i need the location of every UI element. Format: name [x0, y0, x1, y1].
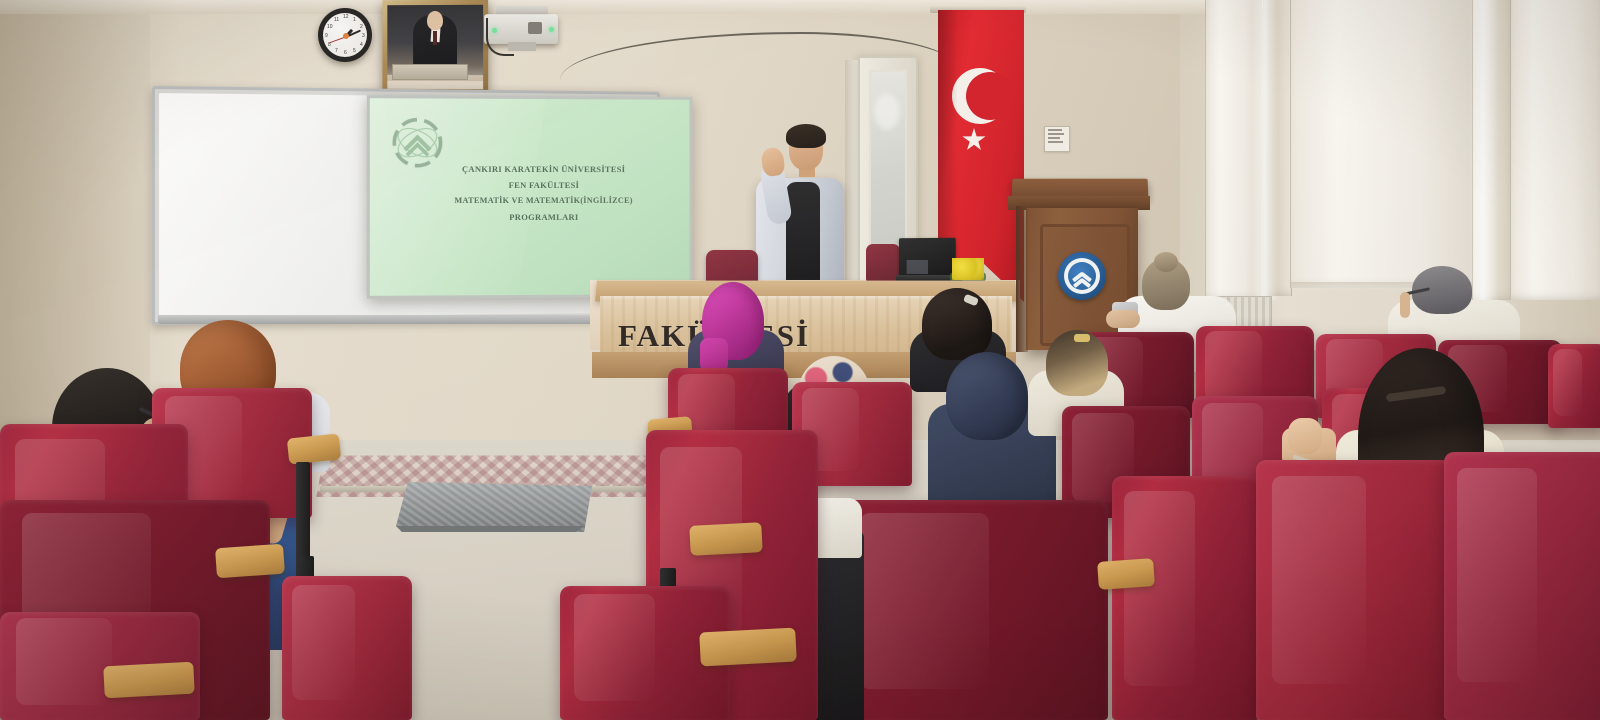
framed-portrait-ataturk — [382, 0, 488, 94]
wall-plate — [392, 64, 468, 80]
clock-numeral: 6 — [344, 50, 347, 56]
headscarf-drape — [700, 338, 728, 372]
notice-text-line — [1048, 129, 1062, 131]
attendee-hand — [1288, 418, 1322, 454]
clock-numeral: 5 — [353, 48, 356, 54]
slide-line-2: FEN FAKÜLTESİ — [418, 177, 667, 193]
notice-text-line — [1048, 137, 1060, 139]
portrait-tie — [433, 31, 437, 45]
roller-blind — [1205, 0, 1262, 300]
seat[interactable] — [282, 576, 412, 720]
seat[interactable] — [1256, 460, 1452, 720]
stage-chair — [866, 244, 900, 282]
clock-center-cap — [343, 33, 349, 39]
wheelchair-access-ramp — [396, 482, 592, 532]
attendee-hair-bun — [1154, 252, 1178, 272]
wall-clock: 12 1 2 3 4 5 6 7 8 9 10 11 — [318, 8, 372, 62]
presenter-hair — [786, 124, 826, 148]
notice-text-line — [1048, 141, 1063, 143]
university-crest-blue — [1058, 252, 1106, 300]
wall-notice-sign — [1044, 126, 1070, 152]
projector-lens — [528, 22, 542, 34]
attendee-headscarf — [946, 352, 1028, 440]
clock-face: 12 1 2 3 4 5 6 7 8 9 10 11 — [323, 13, 367, 57]
seat[interactable] — [1548, 344, 1600, 428]
clock-numeral: 12 — [343, 14, 349, 20]
laptop-screen-glow — [907, 260, 928, 274]
clock-numeral: 9 — [325, 33, 328, 39]
seat-armrest — [1097, 558, 1155, 590]
laptop — [899, 238, 956, 276]
seat[interactable] — [838, 500, 1108, 720]
door-edge — [845, 60, 859, 300]
portrait-head — [427, 11, 443, 30]
roller-blind — [1263, 0, 1292, 296]
slide-line-3: MATEMATİK VE MATEMATİK(İNGİLİZCE) — [418, 193, 667, 209]
projector-cable — [486, 18, 514, 56]
attendee-ear — [1400, 292, 1410, 318]
presentation-slide: ÇANKIRI KARATEKİN ÜNİVERSİTESİ FEN FAKÜL… — [370, 98, 690, 296]
clock-numeral: 1 — [353, 17, 356, 23]
hair-clip — [1074, 334, 1090, 342]
lecture-hall-photo: 12 1 2 3 4 5 6 7 8 9 10 11 — [0, 0, 1600, 720]
roller-blind — [1510, 0, 1600, 300]
slide-text-block: ÇANKIRI KARATEKİN ÜNİVERSİTESİ FEN FAKÜL… — [418, 161, 667, 225]
flower-arrangement — [952, 258, 984, 280]
slide-line-4: PROGRAMLARI — [418, 209, 667, 225]
attendee-hand — [1106, 310, 1140, 328]
crest-core — [1068, 262, 1096, 290]
ramp-lip — [396, 526, 592, 532]
presenter-shirt — [786, 182, 820, 290]
projection-screen: ÇANKIRI KARATEKİN ÜNİVERSİTESİ FEN FAKÜL… — [367, 95, 693, 299]
seat-armrest — [699, 628, 797, 667]
clock-numeral: 7 — [335, 48, 338, 54]
door-glass-reflection — [874, 94, 900, 130]
clock-numeral: 11 — [334, 17, 339, 23]
clock-numeral: 3 — [362, 33, 365, 39]
attendee-hair — [922, 288, 992, 360]
seat-armrest — [689, 522, 762, 556]
crescent-cutout — [966, 72, 1014, 120]
slide-line-1: ÇANKIRI KARATEKİN ÜNİVERSİTESİ — [418, 161, 667, 177]
seat[interactable] — [1444, 452, 1600, 720]
seat[interactable] — [1112, 476, 1260, 720]
seat-armrest — [103, 662, 195, 699]
seat-armrest — [287, 433, 341, 464]
projector-status-led — [549, 27, 554, 32]
roller-blind — [1290, 0, 1474, 288]
seat-armrest — [215, 544, 285, 579]
roller-blind — [1472, 0, 1512, 300]
podium-side — [1016, 206, 1028, 352]
clock-numeral: 10 — [327, 24, 333, 30]
clock-numeral: 4 — [360, 42, 363, 48]
notice-text-line — [1048, 133, 1064, 135]
